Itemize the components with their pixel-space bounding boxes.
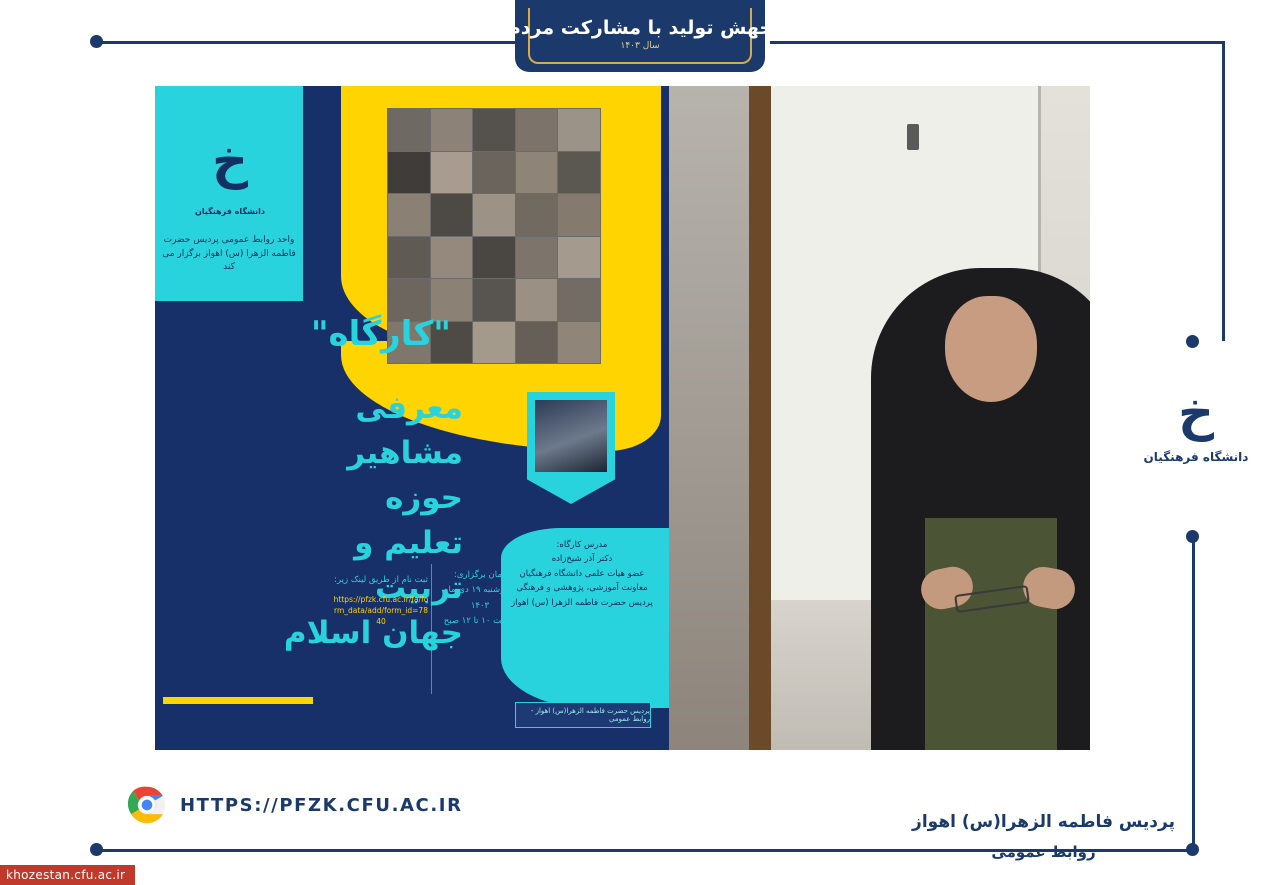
university-logo-mark: خ bbox=[212, 132, 248, 190]
chrome-icon bbox=[128, 786, 166, 824]
university-logo-right: خ دانشگاه فرهنگیان bbox=[1140, 388, 1252, 508]
university-logo-caption: دانشگاه فرهنگیان bbox=[177, 207, 283, 216]
poster-title-line-3: حوزه bbox=[283, 476, 463, 521]
speaker-info-line-1: مدرس کارگاه: bbox=[507, 538, 657, 552]
university-logo-icon: خ دانشگاه فرهنگیان bbox=[177, 102, 283, 220]
photo-ceiling-fixture-icon bbox=[907, 124, 919, 150]
presenter-face bbox=[945, 296, 1037, 402]
slide-image: خ دانشگاه فرهنگیان واحد روابط عمومی پردی… bbox=[155, 86, 1090, 750]
frame-line-top-left bbox=[96, 41, 531, 44]
speaker-info-line-5: پردیس حضرت فاطمه الزهرا (س) اهواز bbox=[507, 596, 657, 610]
poster-title-line-2: مشاهیر bbox=[283, 431, 463, 476]
frame-line-top-right bbox=[770, 41, 1225, 44]
footer-caption-line-2: روابط عمومی bbox=[912, 838, 1175, 867]
speaker-info-line-2: دکتر آذر شیخ‌زاده bbox=[507, 552, 657, 566]
banner-title: جهش تولید با مشارکت مردم bbox=[515, 19, 765, 39]
frame-line-right-lower bbox=[1192, 536, 1195, 852]
registration-label: ثبت نام از طریق لینک زیر: bbox=[333, 574, 429, 588]
speaker-portrait-badge bbox=[527, 392, 615, 504]
event-poster: خ دانشگاه فرهنگیان واحد روابط عمومی پردی… bbox=[155, 86, 669, 750]
frame-dot-right-lower bbox=[1186, 530, 1199, 543]
photo-wall-left bbox=[669, 86, 749, 750]
watermark: khozestan.cfu.ac.ir bbox=[0, 865, 135, 885]
event-time-label: زمان برگزاری: bbox=[437, 568, 523, 583]
speaker-info-panel: مدرس کارگاه: دکتر آذر شیخ‌زاده عضو هیات … bbox=[501, 528, 669, 708]
frame-dot-top-left bbox=[90, 35, 103, 48]
poster-workshop-word: "کارگاه" bbox=[311, 314, 451, 354]
event-time-block: زمان برگزاری: چهارشنبه ۱۹ دی ماه ۱۴۰۳ سا… bbox=[437, 568, 523, 629]
top-banner-inner: جهش تولید با مشارکت مردم سال ۱۴۰۳ bbox=[528, 8, 752, 64]
frame-dot-bottom-left bbox=[90, 843, 103, 856]
presenter-photo bbox=[669, 86, 1090, 750]
top-banner: جهش تولید با مشارکت مردم سال ۱۴۰۳ bbox=[515, 0, 765, 72]
frame-dot-right-mid bbox=[1186, 335, 1199, 348]
frame-line-right bbox=[1222, 41, 1225, 341]
poster-title-line-1: معرفی bbox=[283, 386, 463, 431]
event-date: چهارشنبه ۱۹ دی ماه ۱۴۰۳ bbox=[437, 583, 523, 614]
event-hours: ساعت ۱۰ تا ۱۲ صبح bbox=[437, 614, 523, 629]
footer-caption-line-1: پردیس فاطمه الزهرا(س) اهواز bbox=[912, 806, 1175, 838]
speaker-info-line-4: معاونت آموزشی، پژوهشی و فرهنگی bbox=[507, 581, 657, 595]
presenter-coat bbox=[925, 518, 1057, 750]
poster-divider bbox=[431, 564, 432, 694]
university-logo-right-mark: خ bbox=[1140, 388, 1252, 438]
website-url[interactable]: HTTPS://PFZK.CFU.AC.IR bbox=[180, 795, 463, 816]
registration-block: ثبت نام از طریق لینک زیر: https://pfzk.c… bbox=[333, 574, 429, 627]
registration-link[interactable]: https://pfzk.cfu.ac.ir/fa/form_data/add/… bbox=[333, 594, 429, 628]
footer-caption: پردیس فاطمه الزهرا(س) اهواز روابط عمومی bbox=[912, 806, 1175, 867]
poster-intro-text: واحد روابط عمومی پردیس حضرت فاطمه الزهرا… bbox=[161, 234, 297, 275]
frame-dot-bottom-right bbox=[1186, 843, 1199, 856]
speaker-photo bbox=[535, 400, 607, 472]
university-logo-right-name: دانشگاه فرهنگیان bbox=[1140, 450, 1252, 464]
photo-presenter-figure bbox=[847, 268, 1090, 750]
poster-footer-badge: پردیس حضرت فاطمه الزهرا(س) اهواز - روابط… bbox=[515, 702, 651, 728]
website-row[interactable]: HTTPS://PFZK.CFU.AC.IR bbox=[128, 786, 463, 824]
speaker-info-line-3: عضو هیات علمی دانشگاه فرهنگیان bbox=[507, 567, 657, 581]
poster-yellow-underline bbox=[163, 697, 313, 704]
banner-subtitle: سال ۱۴۰۳ bbox=[620, 41, 659, 51]
photo-door-frame bbox=[749, 86, 771, 750]
